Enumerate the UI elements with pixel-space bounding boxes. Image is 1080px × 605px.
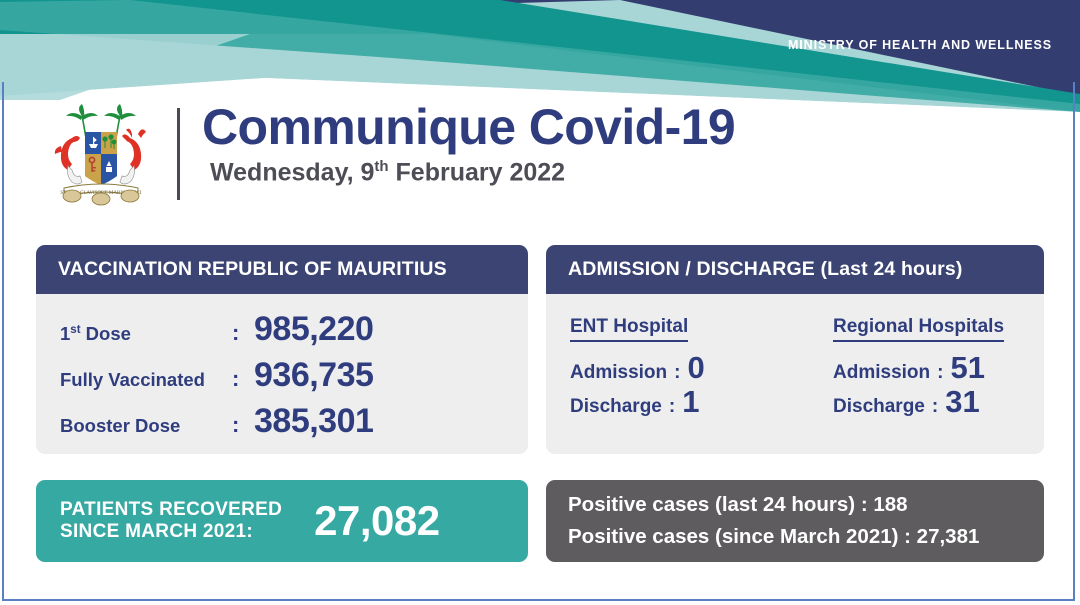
- vaccination-rows: 1st Dose : 985,220 Fully Vaccinated : 93…: [36, 294, 528, 448]
- colon-separator: :: [232, 366, 254, 392]
- admission-label: Admission: [833, 362, 930, 384]
- hospital-title: Regional Hospitals: [833, 316, 1004, 342]
- patients-recovered-value: 27,082: [314, 497, 439, 545]
- banner-graphic: [0, 0, 1080, 112]
- admission-value: 0: [687, 354, 704, 382]
- discharge-label: Discharge: [833, 396, 925, 418]
- patients-recovered-label: PATIENTS RECOVERED SINCE MARCH 2021:: [36, 499, 282, 544]
- page-subtitle-date: Wednesday, 9th February 2022: [210, 158, 735, 187]
- admission-card-header: ADMISSION / DISCHARGE (Last 24 hours): [546, 245, 1044, 294]
- discharge-label: Discharge: [570, 396, 662, 418]
- vaccination-label: Booster Dose: [60, 415, 232, 437]
- title-divider: [177, 108, 180, 200]
- vaccination-card: VACCINATION REPUBLIC OF MAURITIUS 1st Do…: [36, 245, 528, 454]
- vaccination-card-header: VACCINATION REPUBLIC OF MAURITIUS: [36, 245, 528, 294]
- title-row: STELLA CLAVISQUE MARIS INDICI Communique…: [0, 100, 1080, 215]
- hospital-column-ent: ENT Hospital Admission : 0 Discharge : 1: [546, 316, 795, 422]
- discharge-value: 31: [945, 388, 979, 416]
- positive-cases-last-24h: Positive cases (last 24 hours) : 188: [568, 489, 1044, 521]
- hospital-columns: ENT Hospital Admission : 0 Discharge : 1…: [546, 294, 1044, 422]
- vaccination-label: 1st Dose: [60, 323, 232, 345]
- colon-separator: :: [667, 362, 687, 384]
- admission-value: 51: [950, 354, 984, 382]
- date-ordinal-suffix: th: [374, 158, 388, 175]
- table-row: Booster Dose : 385,301: [36, 402, 528, 448]
- page-title: Communique Covid-19: [202, 100, 735, 154]
- ministry-label: MINISTRY OF HEALTH AND WELLNESS: [788, 38, 1052, 52]
- table-row: Admission : 0: [570, 354, 795, 384]
- colon-separator: :: [232, 320, 254, 346]
- colon-separator: :: [925, 396, 945, 418]
- vaccination-label-main: 1: [60, 323, 70, 344]
- admission-label: Admission: [570, 362, 667, 384]
- header-banner: MINISTRY OF HEALTH AND WELLNESS: [0, 0, 1080, 112]
- title-block: Communique Covid-19 Wednesday, 9th Febru…: [202, 100, 735, 187]
- vaccination-label-rest: Dose: [81, 323, 131, 344]
- mauritius-coat-of-arms-icon: STELLA CLAVISQUE MARIS INDICI: [42, 104, 160, 208]
- discharge-value: 1: [682, 388, 699, 416]
- patients-recovered-card: PATIENTS RECOVERED SINCE MARCH 2021: 27,…: [36, 480, 528, 562]
- vaccination-label: Fully Vaccinated: [60, 369, 232, 391]
- colon-separator: :: [232, 412, 254, 438]
- admission-discharge-card: ADMISSION / DISCHARGE (Last 24 hours) EN…: [546, 245, 1044, 454]
- table-row: Discharge : 1: [570, 388, 795, 418]
- table-row: Discharge : 31: [833, 388, 1044, 418]
- table-row: Admission : 51: [833, 354, 1044, 384]
- vaccination-value: 936,735: [254, 356, 373, 395]
- vaccination-value: 985,220: [254, 310, 373, 349]
- date-prefix: Wednesday, 9: [210, 158, 374, 186]
- colon-separator: :: [662, 396, 682, 418]
- hospital-column-regional: Regional Hospitals Admission : 51 Discha…: [795, 316, 1044, 422]
- hospital-title: ENT Hospital: [570, 316, 688, 342]
- vaccination-value: 385,301: [254, 402, 373, 441]
- colon-separator: :: [930, 362, 950, 384]
- positive-cases-since-march: Positive cases (since March 2021) : 27,3…: [568, 521, 1044, 553]
- positive-cases-card: Positive cases (last 24 hours) : 188 Pos…: [546, 480, 1044, 562]
- date-rest: February 2022: [389, 158, 566, 186]
- table-row: 1st Dose : 985,220: [36, 310, 528, 356]
- table-row: Fully Vaccinated : 936,735: [36, 356, 528, 402]
- vaccination-label-sup: st: [70, 324, 80, 336]
